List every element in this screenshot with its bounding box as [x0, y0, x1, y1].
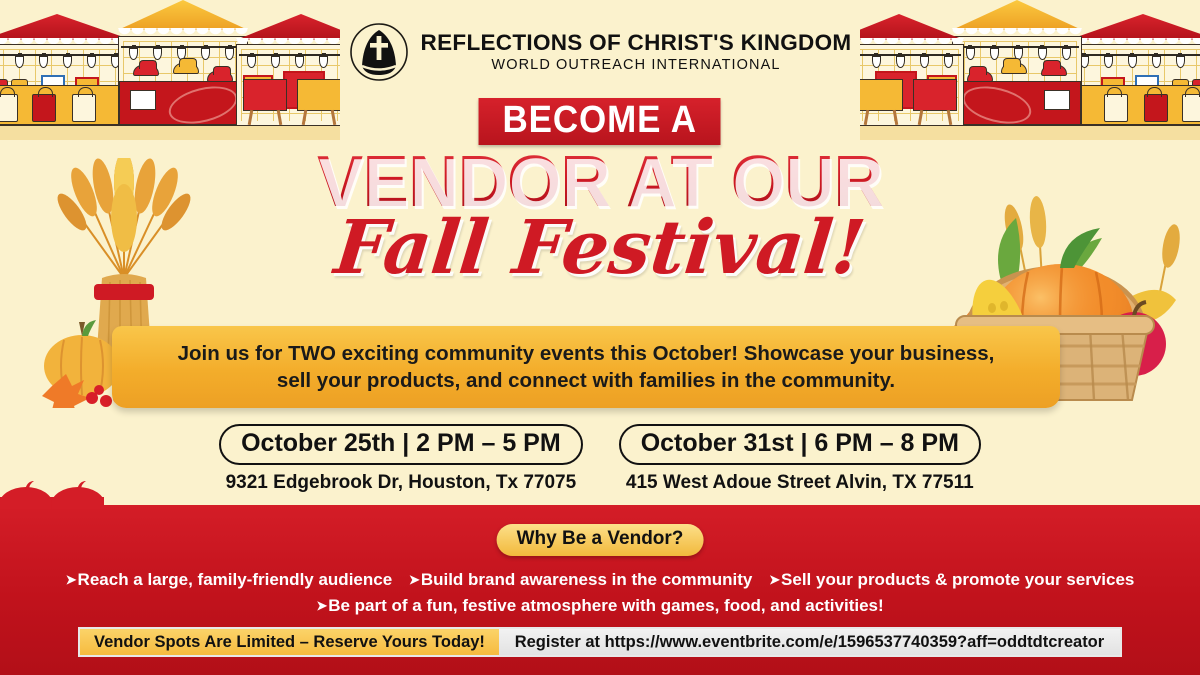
brand-header: REFLECTIONS OF CHRIST'S KINGDOM WORLD OU… — [0, 22, 1200, 82]
flyer-canvas: REFLECTIONS OF CHRIST'S KINGDOM WORLD OU… — [0, 0, 1200, 675]
description-line-1: Join us for TWO exciting community event… — [178, 342, 995, 365]
event-item: October 25th | 2 PM – 5 PM 9321 Edgebroo… — [219, 424, 583, 494]
headline-line-2: Fall Festival! — [0, 211, 1200, 285]
description-line-2: sell your products, and connect with fam… — [277, 369, 895, 392]
event-address: 9321 Edgebrook Dr, Houston, Tx 77075 — [219, 472, 583, 494]
organization-subtitle: WORLD OUTREACH INTERNATIONAL — [421, 58, 852, 73]
bullet-arrow-icon: ➤ — [316, 598, 327, 613]
headline-block: BECOME A VENDOR AT OUR Fall Festival! — [0, 98, 1200, 285]
bishop-mitre-cross-icon — [349, 22, 409, 82]
benefit-item: Build brand awareness in the community — [421, 570, 753, 589]
red-band — [94, 284, 154, 300]
benefit-item: Be part of a fun, festive atmosphere wit… — [328, 596, 883, 615]
registration-bar: Vendor Spots Are Limited – Reserve Yours… — [78, 627, 1122, 657]
description-banner: Join us for TWO exciting community event… — [112, 326, 1060, 408]
benefit-item: Reach a large, family-friendly audience — [78, 570, 393, 589]
benefits-list: ➤Reach a large, family-friendly audience… — [0, 567, 1200, 620]
event-address: 415 West Adoue Street Alvin, TX 77511 — [619, 472, 981, 494]
event-item: October 31st | 6 PM – 8 PM 415 West Adou… — [619, 424, 981, 494]
organization-name: REFLECTIONS OF CHRIST'S KINGDOM — [421, 32, 852, 55]
registration-link[interactable]: Register at https://www.eventbrite.com/e… — [499, 629, 1120, 655]
event-date-time: October 31st | 6 PM – 8 PM — [619, 424, 981, 465]
events-row: October 25th | 2 PM – 5 PM 9321 Edgebroo… — [0, 424, 1200, 494]
why-vendor-badge: Why Be a Vendor? — [497, 524, 704, 556]
bullet-arrow-icon: ➤ — [409, 572, 420, 587]
bullet-arrow-icon: ➤ — [769, 572, 780, 587]
limited-spots-notice: Vendor Spots Are Limited – Reserve Yours… — [80, 629, 499, 655]
headline-kicker: BECOME A — [479, 98, 721, 145]
benefit-item: Sell your products & promote your servic… — [781, 570, 1134, 589]
event-date-time: October 25th | 2 PM – 5 PM — [219, 424, 583, 465]
benefits-row-1: ➤Reach a large, family-friendly audience… — [0, 567, 1200, 593]
bullet-arrow-icon: ➤ — [66, 572, 77, 587]
benefits-row-2: ➤Be part of a fun, festive atmosphere wi… — [0, 593, 1200, 619]
